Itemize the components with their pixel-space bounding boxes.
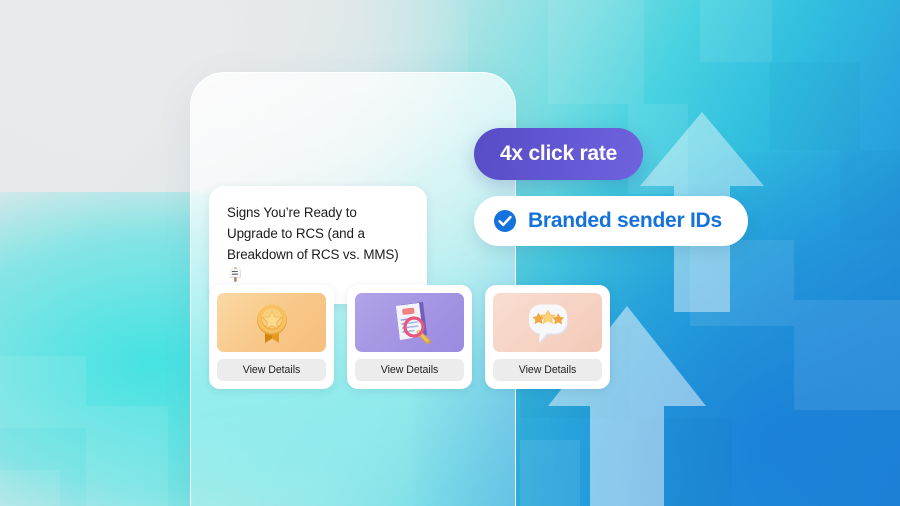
list-item[interactable]: View Details xyxy=(485,285,610,389)
message-bubble-text: Signs You’re Ready to Upgrade to RCS (an… xyxy=(227,203,409,286)
mosaic-square xyxy=(86,406,168,506)
mosaic-square xyxy=(770,62,860,150)
check-circle-icon xyxy=(493,209,517,233)
document-search-icon xyxy=(383,298,437,348)
mosaic-square xyxy=(0,470,60,506)
message-text: Signs You’re Ready to Upgrade to RCS (an… xyxy=(227,205,399,262)
stat-pill-label: 4x click rate xyxy=(500,142,617,166)
view-details-button[interactable]: View Details xyxy=(217,359,326,381)
view-details-button[interactable]: View Details xyxy=(493,359,602,381)
card-list: View Details xyxy=(209,285,610,389)
mosaic-square xyxy=(0,356,86,428)
card-thumbnail xyxy=(493,293,602,352)
card-thumbnail xyxy=(217,293,326,352)
feature-pill-label: Branded sender IDs xyxy=(528,209,722,233)
mosaic-square xyxy=(548,0,644,104)
mosaic-square xyxy=(700,0,772,62)
stat-pill: 4x click rate xyxy=(474,128,643,180)
card-thumbnail xyxy=(355,293,464,352)
list-item[interactable]: View Details xyxy=(347,285,472,389)
hero-graphic: Signs You’re Ready to Upgrade to RCS (an… xyxy=(0,0,900,506)
view-details-button[interactable]: View Details xyxy=(355,359,464,381)
feature-pill: Branded sender IDs xyxy=(474,196,748,246)
mosaic-square xyxy=(840,150,900,240)
list-item[interactable]: View Details xyxy=(209,285,334,389)
award-medal-icon xyxy=(246,297,298,349)
star-review-bubble-icon xyxy=(520,299,576,347)
signpost-emoji: 🪧 xyxy=(227,267,243,282)
mosaic-square xyxy=(794,300,900,410)
